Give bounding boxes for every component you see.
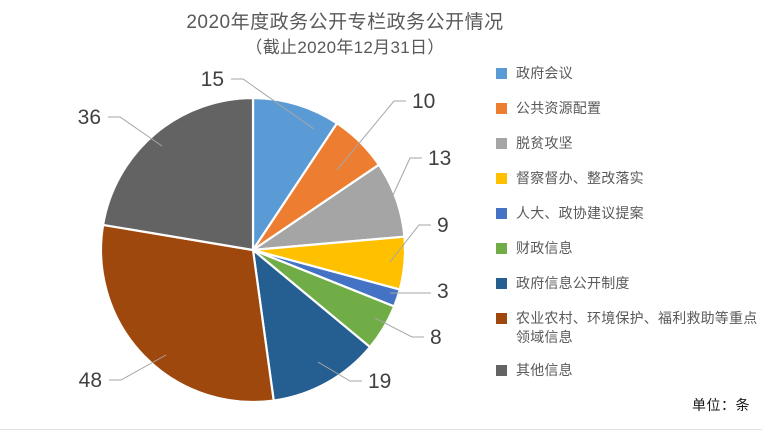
legend-item-label: 公共资源配置	[516, 99, 601, 118]
unit-note: 单位：条	[692, 395, 750, 415]
legend-item-label: 农业农村、环境保护、福利救助等重点领域信息	[516, 309, 758, 347]
data-label: 9	[437, 214, 449, 237]
legend-item[interactable]: 脱贫攻坚	[496, 134, 758, 153]
legend-color-swatch	[496, 208, 507, 219]
legend-item[interactable]: 督察督办、整改落实	[496, 169, 758, 188]
legend-color-swatch	[496, 313, 507, 324]
legend-item-label: 政府会议	[516, 64, 573, 83]
legend-color-swatch	[496, 173, 507, 184]
pie-plot-area: 151013938194836	[0, 0, 500, 430]
data-label: 3	[437, 280, 449, 303]
legend-color-swatch	[496, 103, 507, 114]
legend-color-swatch	[496, 243, 507, 254]
legend-item-label: 督察督办、整改落实	[516, 169, 644, 188]
legend-item[interactable]: 公共资源配置	[496, 99, 758, 118]
data-label: 10	[412, 90, 435, 113]
legend-item-label: 人大、政协建议提案	[516, 204, 644, 223]
legend-color-swatch	[496, 365, 507, 376]
pie-svg: 151013938194836	[0, 0, 500, 430]
data-label: 13	[428, 147, 451, 170]
data-label: 19	[368, 370, 391, 393]
legend-item[interactable]: 农业农村、环境保护、福利救助等重点领域信息	[496, 309, 758, 347]
legend-item[interactable]: 人大、政协建议提案	[496, 204, 758, 223]
legend-color-swatch	[496, 68, 507, 79]
legend-item[interactable]: 政府信息公开制度	[496, 274, 758, 293]
legend-item-label: 脱贫攻坚	[516, 134, 573, 153]
legend-item-label: 其他信息	[516, 361, 573, 380]
legend-color-swatch	[496, 138, 507, 149]
data-label: 48	[79, 369, 102, 392]
data-label: 15	[201, 68, 224, 91]
legend-item-label: 政府信息公开制度	[516, 274, 630, 293]
data-label: 36	[78, 106, 101, 129]
data-label: 8	[430, 326, 442, 349]
pie-slice[interactable]	[101, 225, 274, 402]
legend-item[interactable]: 其他信息	[496, 361, 758, 380]
legend-color-swatch	[496, 278, 507, 289]
legend-item-label: 财政信息	[516, 239, 573, 258]
chart-legend: 政府会议公共资源配置脱贫攻坚督察督办、整改落实人大、政协建议提案财政信息政府信息…	[496, 64, 758, 394]
legend-item[interactable]: 财政信息	[496, 239, 758, 258]
pie-chart-container: 2020年度政务公开专栏政务公开情况 （截止2020年12月31日） 15101…	[0, 0, 762, 430]
legend-item[interactable]: 政府会议	[496, 64, 758, 83]
